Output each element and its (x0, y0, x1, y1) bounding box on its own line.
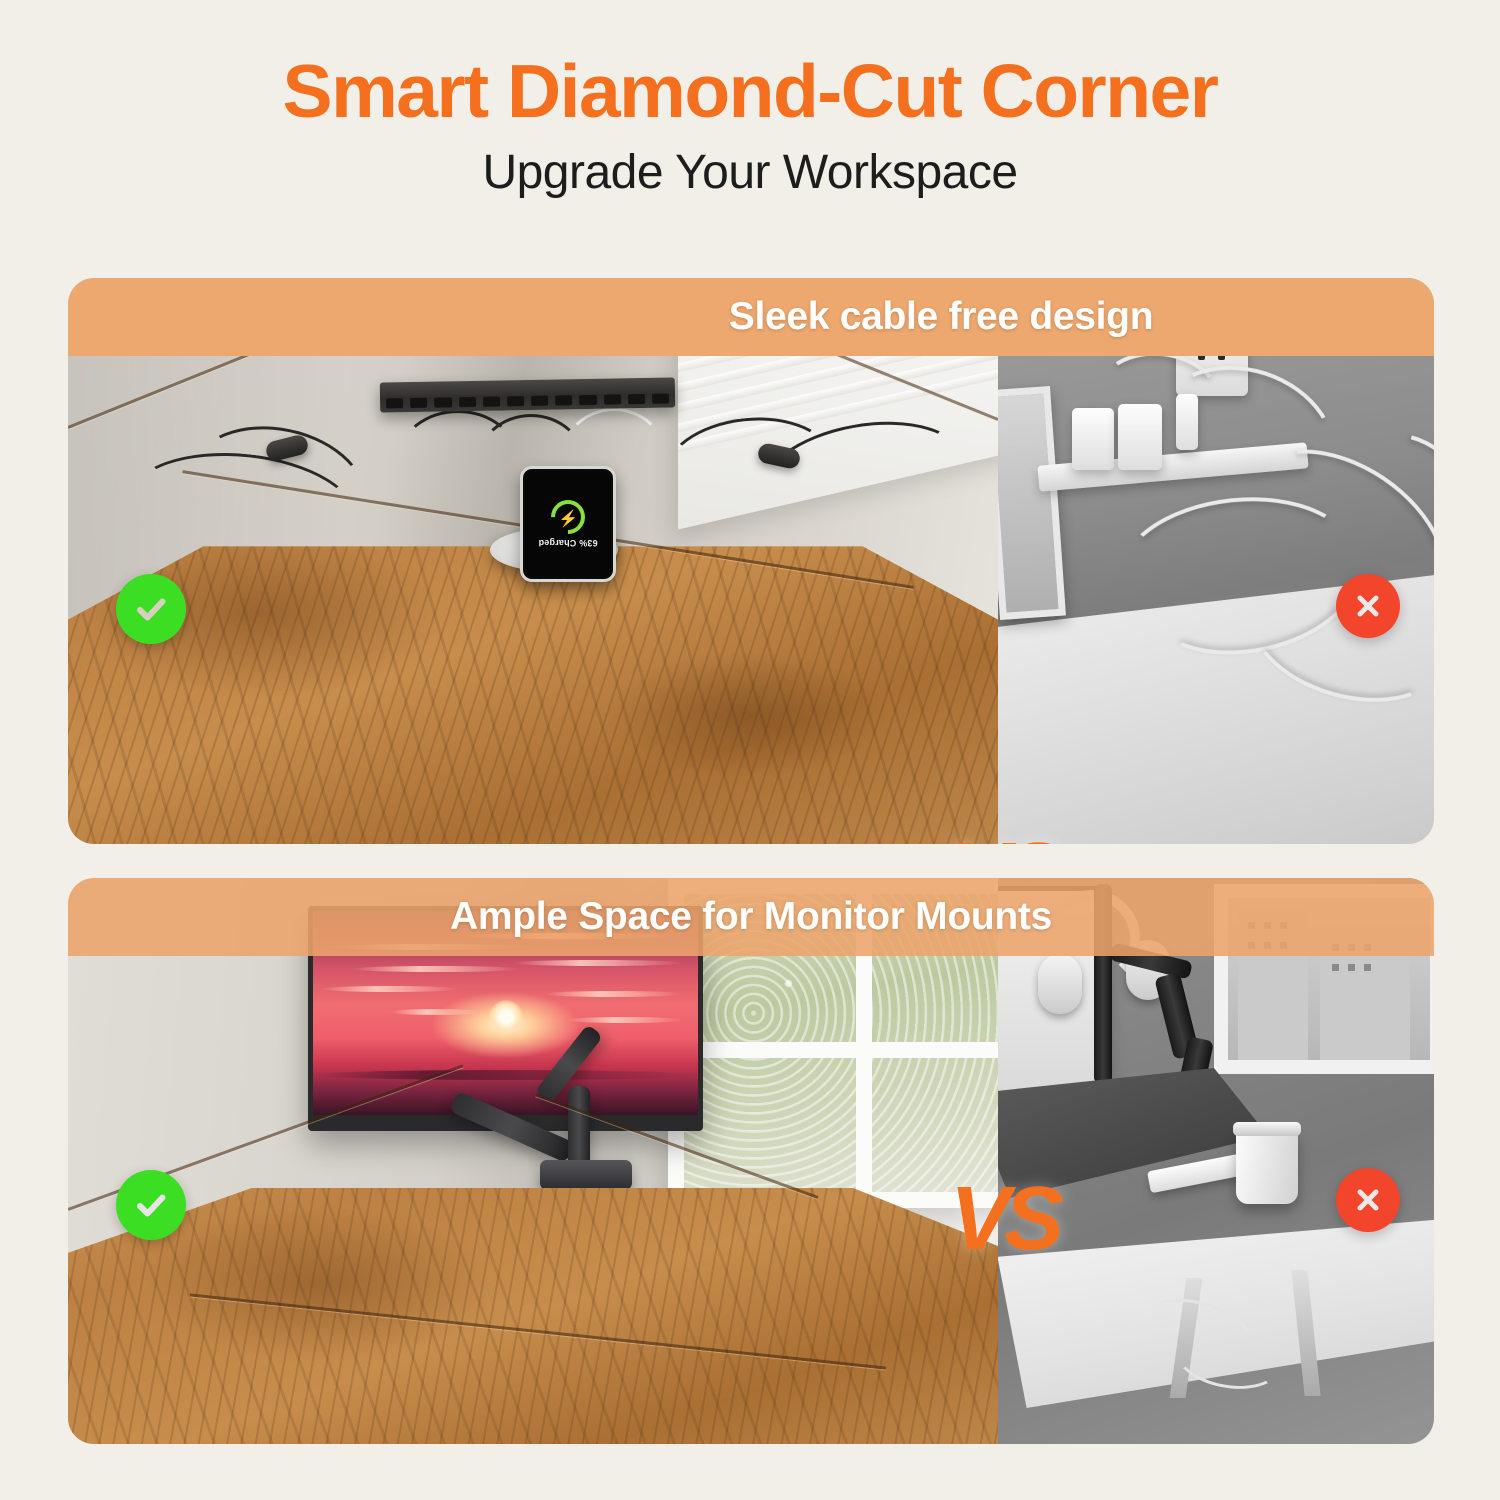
monitor-screen-sunset-wallpaper (313, 911, 698, 1115)
close-icon (1350, 588, 1386, 624)
page-header: Smart Diamond-Cut Corner Upgrade Your Wo… (0, 0, 1500, 200)
bad-example-image-tangled-cables (998, 278, 1434, 844)
desk-clamp-base (540, 1160, 632, 1190)
smartphone: 63% Charged ⚡ (520, 466, 616, 582)
phone-screen: 63% Charged ⚡ (525, 471, 611, 577)
check-badge (116, 574, 186, 644)
good-example-image-monitor-arm (68, 878, 998, 1444)
headphone-ear-cup (1038, 954, 1082, 1014)
page-subtitle: Upgrade Your Workspace (0, 145, 1500, 200)
check-badge (116, 1170, 186, 1240)
monitor (308, 906, 703, 1131)
check-icon (131, 589, 171, 629)
cross-badge (1336, 1168, 1400, 1232)
comparison-panel-cable-free: 63% Charged ⚡ (68, 278, 1434, 844)
versus-label: VS (950, 830, 1058, 844)
cross-badge (1336, 574, 1400, 638)
good-example-image-cable-free: 63% Charged ⚡ (68, 278, 998, 844)
window (1214, 884, 1434, 1074)
check-icon (131, 1185, 171, 1225)
sun (489, 1000, 523, 1034)
charging-bolt-icon: ⚡ (544, 493, 592, 541)
page-title: Smart Diamond-Cut Corner (0, 52, 1500, 131)
monitor-stand-post (1094, 884, 1112, 1084)
comparison-panel-monitor-mounts: Ample Space for Monitor Mounts VS (68, 878, 1434, 1444)
built-in-power-strip (380, 377, 675, 412)
phone-charge-status: 63% Charged (538, 538, 597, 548)
jar (1236, 1130, 1298, 1204)
bad-example-image-cluttered-desk (998, 878, 1434, 1444)
versus-label: VS (950, 1174, 1058, 1264)
wood-desk-surface (68, 1164, 998, 1444)
close-icon (1350, 1182, 1386, 1218)
